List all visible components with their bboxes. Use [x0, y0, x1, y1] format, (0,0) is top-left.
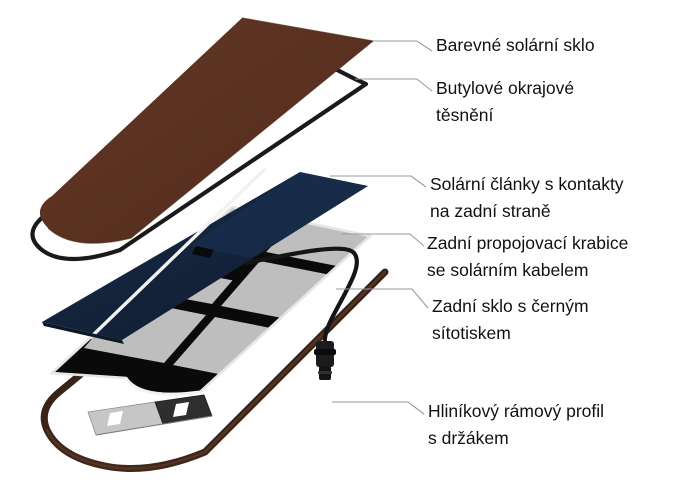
callout-line: se solárním kabelem [427, 260, 588, 280]
frame-mounting-bracket [88, 395, 212, 435]
callout-label-solar-cells-with-rear-contacts: Solární články s kontaktyna zadní straně [430, 174, 624, 221]
callout-line: těsnění [436, 105, 494, 125]
callout-label-rear-glass-black-screen-print: Zadní sklo s černýmsítotiskem [432, 296, 589, 343]
leader-colored-solar-glass [373, 41, 432, 51]
callout-label-butyl-edge-seal: Butylové okrajovétěsnění [436, 78, 574, 125]
callout-line: na zadní straně [430, 201, 551, 221]
callout-line: Zadní propojovací krabice [427, 233, 628, 253]
callout-line: Butylové okrajové [436, 78, 574, 98]
callout-line: s držákem [428, 428, 509, 448]
mc4-connector [314, 341, 336, 380]
diagram-canvas: Barevné solární skloButylové okrajovétěs… [0, 0, 675, 489]
solar-module-exploded-diagram: Barevné solární skloButylové okrajovétěs… [0, 0, 675, 489]
callout-line: Hliníkový rámový profil [428, 401, 604, 421]
callout-line: Solární články s kontakty [430, 174, 624, 194]
callout-line: sítotiskem [432, 323, 511, 343]
mc4-connector-collar [314, 349, 336, 355]
leader-aluminium-frame-profile-with-holder [332, 402, 424, 414]
callout-label-aluminium-frame-profile-with-holder: Hliníkový rámový profils držákem [428, 401, 604, 448]
callout-label-rear-junction-box-with-cable: Zadní propojovací krabicese solárním kab… [427, 233, 628, 280]
callout-line: Zadní sklo s černým [432, 296, 589, 316]
callout-labels: Barevné solární skloButylové okrajovétěs… [427, 35, 628, 448]
callout-label-colored-solar-glass: Barevné solární sklo [436, 35, 595, 55]
mc4-connector-ridge [318, 371, 332, 374]
callout-line: Barevné solární sklo [436, 35, 595, 55]
